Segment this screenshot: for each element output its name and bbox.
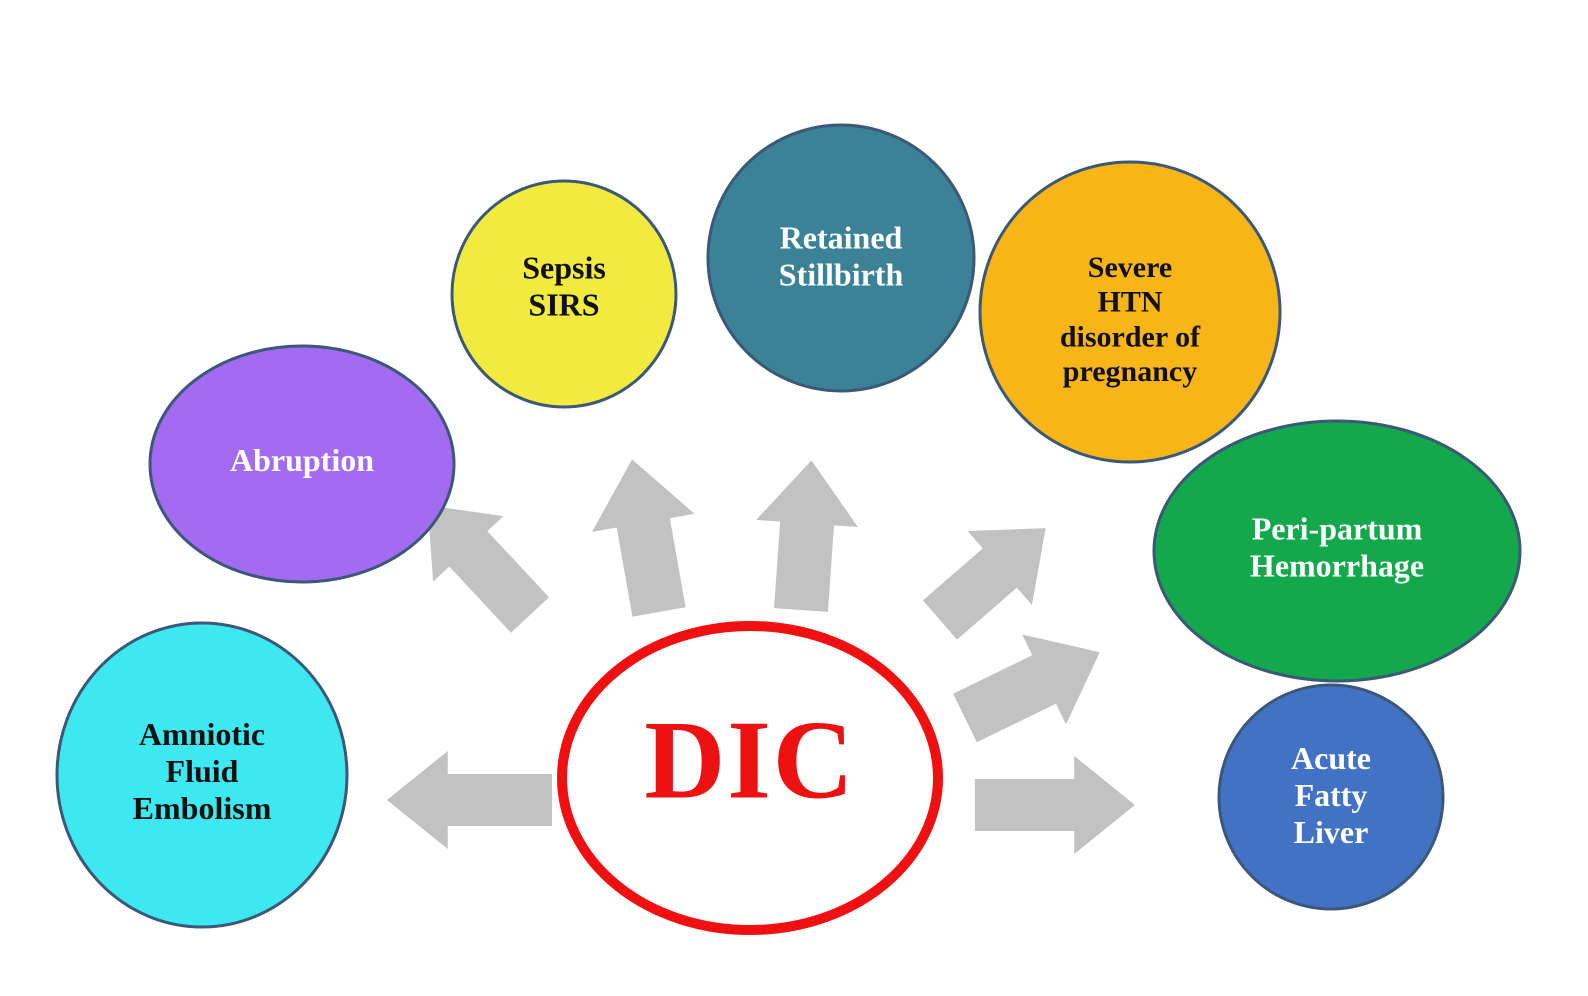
arrow-to-severe-htn [908,491,1078,657]
node-label-peri-partum-hemorrhage: Peri-partumHemorrhage [1250,511,1424,584]
node-label-retained-stillbirth: RetainedStillbirth [779,220,904,293]
arrow-to-peri-partum [943,607,1122,763]
node-label-line: Fatty [1295,777,1368,813]
node-label-line: Severe [1088,251,1172,284]
node-label-abruption: Abruption [230,442,374,478]
node-label-line: Stillbirth [779,257,904,293]
node-peri-partum-hemorrhage[interactable]: Peri-partumHemorrhage [1154,421,1520,681]
node-label-line: disorder of [1060,320,1201,353]
arrow-to-retained-stillbirth [750,457,862,614]
node-label-line: Retained [780,220,903,256]
arrow-to-amniotic-fluid-embolism [387,751,552,849]
node-label-line: Sepsis [522,250,606,286]
center-label: DIC [644,699,855,823]
node-label-sepsis-sirs: SepsisSIRS [522,250,606,323]
node-label-line: HTN [1097,285,1162,318]
node-label-line: Hemorrhage [1250,548,1424,584]
node-label-line: Liver [1294,814,1369,850]
arrow-to-acute-fatty-liver [975,756,1135,854]
node-sepsis-sirs[interactable]: SepsisSIRS [452,181,676,407]
node-label-line: Acute [1291,740,1371,776]
node-label-line: SIRS [528,287,599,323]
node-label-line: Amniotic [139,716,265,752]
node-retained-stillbirth[interactable]: RetainedStillbirth [708,125,974,391]
center-node[interactable]: DIC [562,626,938,930]
node-acute-fatty-liver[interactable]: AcuteFattyLiver [1219,685,1443,909]
node-label-line: pregnancy [1063,355,1197,388]
node-severe-htn-disorder-of-pregnancy[interactable]: SevereHTNdisorder ofpregnancy [980,162,1280,462]
node-label-line: Abruption [230,442,374,478]
diagram-root: SepsisSIRSRetainedStillbirthSevereHTNdis… [0,0,1588,996]
node-label-line: Embolism [133,790,272,826]
node-label-line: Fluid [166,753,239,789]
arrow-to-sepsis [581,450,710,621]
diagram-canvas: SepsisSIRSRetainedStillbirthSevereHTNdis… [0,0,1588,996]
node-label-line: Peri-partum [1252,511,1423,547]
node-amniotic-fluid-embolism[interactable]: AmnioticFluidEmbolism [57,623,347,927]
node-label-acute-fatty-liver: AcuteFattyLiver [1291,740,1371,850]
node-abruption[interactable]: Abruption [150,346,454,582]
